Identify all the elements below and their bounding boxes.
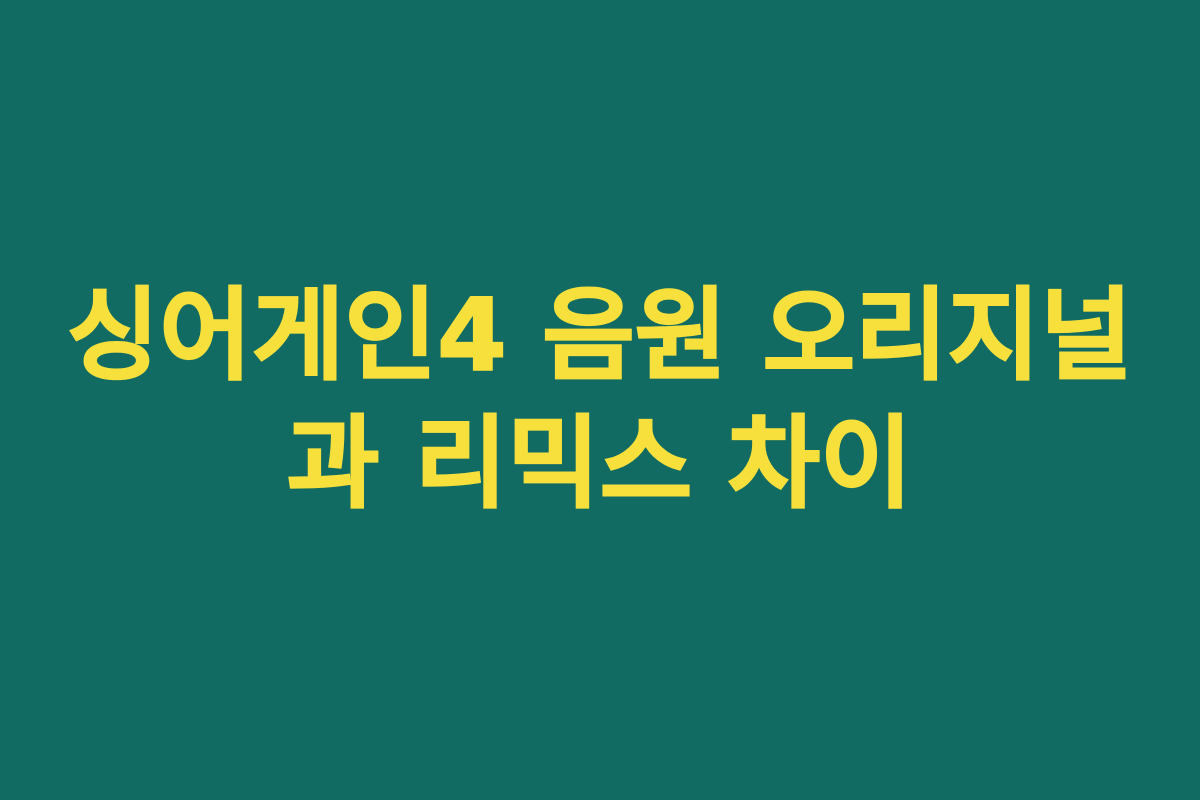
title-line-1: 싱어게인4 음원 오리지널 (67, 275, 1133, 397)
thumbnail-card: 싱어게인4 음원 오리지널 과 리믹스 차이 (0, 0, 1200, 800)
page-title: 싱어게인4 음원 오리지널 과 리믹스 차이 (50, 275, 1150, 525)
title-line-2: 과 리믹스 차이 (287, 403, 913, 525)
